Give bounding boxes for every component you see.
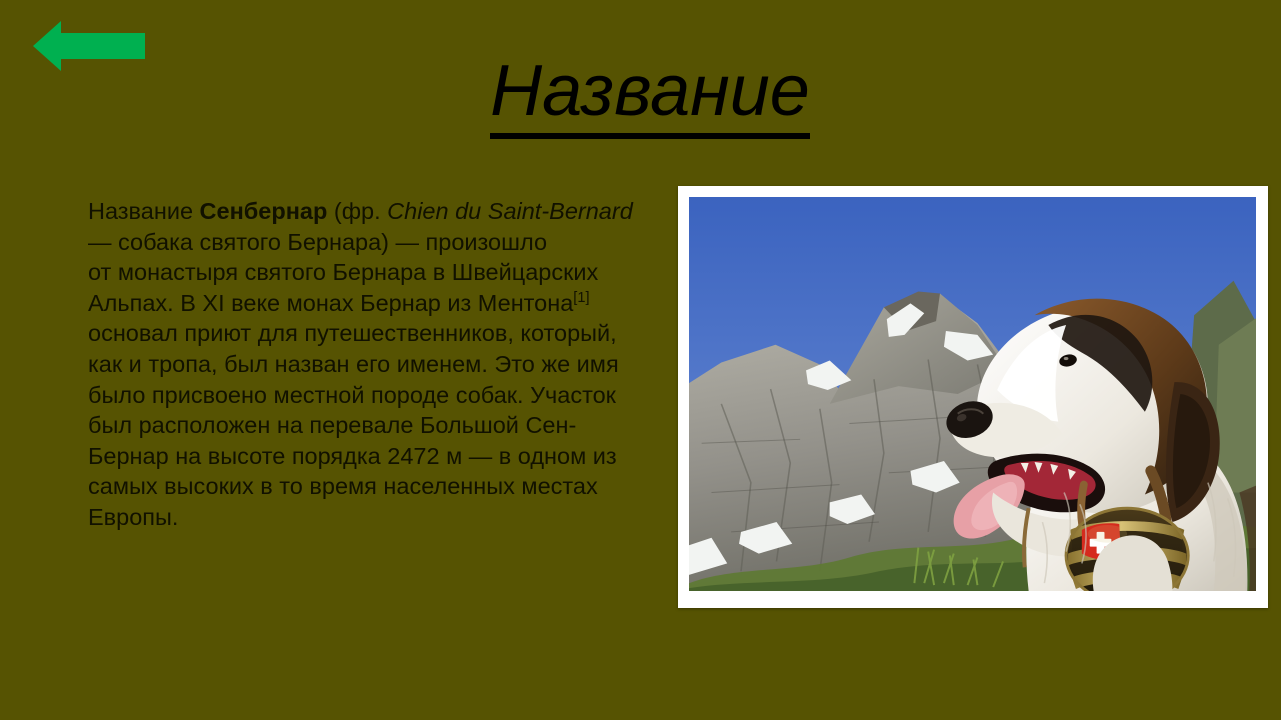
body-french-name: Chien du Saint-Bernard [387,198,633,224]
presentation-slide: Название Название Сенбернар (фр. Chien d… [0,0,1281,720]
body-rest-a: от монастыря святого Бернара в Швейцарск… [88,259,598,316]
arrow-left-icon [33,21,145,71]
body-lead: Название [88,198,200,224]
body-fr-close: — собака святого Бернара) — произошло [88,229,547,255]
saint-bernard-photo [689,197,1256,591]
back-arrow-button[interactable] [33,21,145,71]
body-breed-name: Сенбернар [200,198,328,224]
body-paragraph: Название Сенбернар (фр. Chien du Saint-B… [88,196,633,533]
body-rest-b: основал приют для путешественников, кото… [88,320,619,530]
page-title-text: Название [490,52,810,139]
body-fr-open: (фр. [327,198,387,224]
photo-frame [678,186,1268,608]
page-title: Название [300,52,1000,139]
footnote-marker: [1] [573,290,589,306]
